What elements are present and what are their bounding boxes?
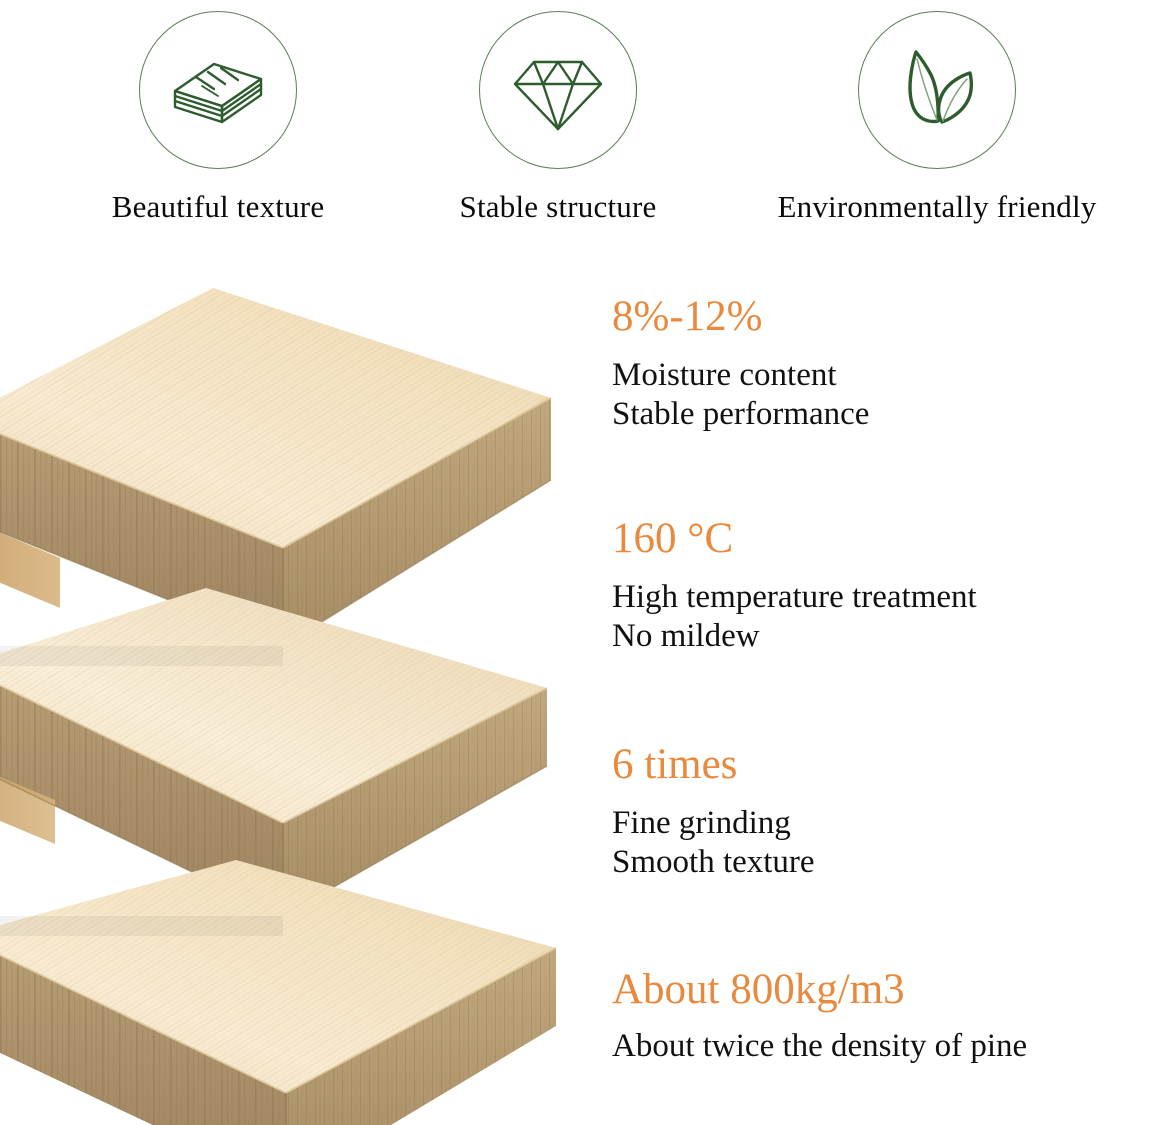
- spec-list: 8%-12% Moisture content Stable performan…: [612, 295, 1165, 1095]
- leaves-icon: [858, 11, 1016, 169]
- spec-line: High temperature treatment: [612, 578, 1165, 617]
- spec-value: 160 °C: [612, 517, 1165, 560]
- diamond-icon: [479, 11, 637, 169]
- stacked-boards-icon: [139, 11, 297, 169]
- spec-description: Moisture content Stable performance: [612, 356, 1165, 434]
- spec-description: About twice the density of pine: [612, 1027, 1165, 1066]
- feature-label: Stable structure: [410, 191, 706, 224]
- spec-high-temperature-treatment: 160 °C High temperature treatment No mil…: [612, 517, 1165, 656]
- spec-value: 8%-12%: [612, 295, 1165, 338]
- spec-description: Fine grinding Smooth texture: [612, 804, 1165, 882]
- spec-value: 6 times: [612, 743, 1165, 786]
- feature-strip: Beautiful texture Stable struc: [0, 0, 1165, 250]
- product-infographic: Beautiful texture Stable struc: [0, 0, 1165, 1125]
- spec-value: About 800kg/m3: [612, 968, 1165, 1011]
- spec-density: About 800kg/m3 About twice the density o…: [612, 968, 1165, 1066]
- spec-description: High temperature treatment No mildew: [612, 578, 1165, 656]
- stacked-bamboo-boards-image: [0, 248, 586, 1125]
- feature-environmentally-friendly: Environmentally friendly: [712, 0, 1162, 224]
- spec-fine-grinding: 6 times Fine grinding Smooth texture: [612, 743, 1165, 882]
- spec-line: About twice the density of pine: [612, 1027, 1165, 1066]
- feature-label: Beautiful texture: [30, 191, 406, 224]
- spec-line: Fine grinding: [612, 804, 1165, 843]
- spec-line: Moisture content: [612, 356, 1165, 395]
- feature-label: Environmentally friendly: [712, 191, 1162, 224]
- spec-moisture-content: 8%-12% Moisture content Stable performan…: [612, 295, 1165, 434]
- spec-line: Stable performance: [612, 395, 1165, 434]
- spec-line: No mildew: [612, 617, 1165, 656]
- feature-beautiful-texture: Beautiful texture: [30, 0, 406, 224]
- spec-line: Smooth texture: [612, 843, 1165, 882]
- feature-stable-structure: Stable structure: [410, 0, 706, 224]
